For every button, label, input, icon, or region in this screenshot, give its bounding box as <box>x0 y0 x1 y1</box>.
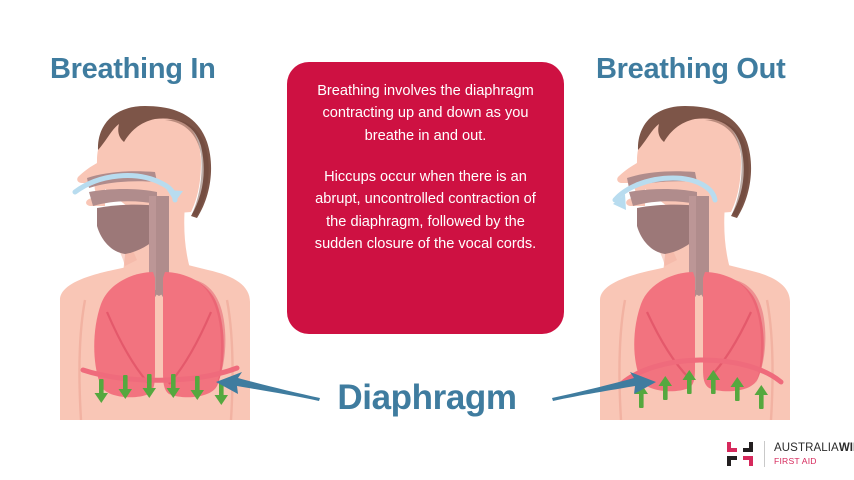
logo-brand-regular: AUSTRALIA <box>774 442 839 454</box>
info-card: Breathing involves the diaphragm contrac… <box>287 62 564 334</box>
logo-tagline: FIRST AID <box>774 457 854 466</box>
diaphragm-label: Diaphragm <box>0 378 854 418</box>
logo-brand-bold: WIDE <box>839 442 854 454</box>
diaphragm-pointer-arrow-right <box>550 366 660 411</box>
logo-brand-name: AUSTRALIAWIDE <box>774 442 854 454</box>
info-card-paragraph-2: Hiccups occur when there is an abrupt, u… <box>307 166 544 255</box>
diaphragm-pointer-arrow-left <box>212 366 322 411</box>
infographic-canvas: Breathing In Breathing Out Breathing inv… <box>0 0 854 480</box>
first-aid-cross-icon <box>726 440 754 468</box>
heading-breathing-in: Breathing In <box>50 53 216 86</box>
info-card-paragraph-1: Breathing involves the diaphragm contrac… <box>307 80 544 147</box>
logo-divider <box>764 441 765 467</box>
logo-text: AUSTRALIAWIDE FIRST AID <box>774 442 854 465</box>
heading-breathing-out: Breathing Out <box>596 53 785 86</box>
australia-wide-first-aid-logo: AUSTRALIAWIDE FIRST AID <box>726 440 854 468</box>
